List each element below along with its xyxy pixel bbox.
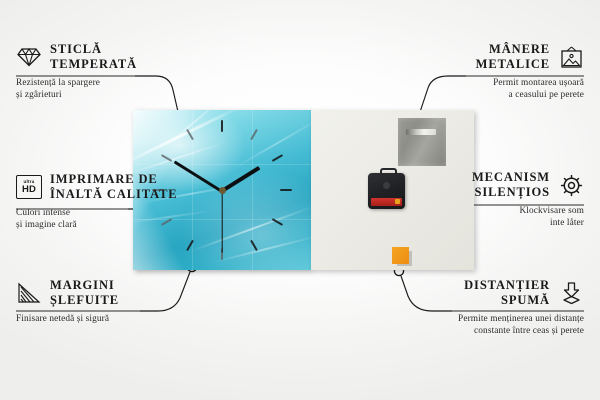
clock-hour-hand [221, 166, 260, 193]
hd-badge-main-text: HD [22, 185, 36, 195]
callout-description: Permit montarea ușoară a ceasului pe per… [384, 77, 584, 102]
clock-tick-12 [221, 120, 223, 132]
clock-second-hand [221, 191, 222, 253]
callout-metal-hangers: MÂNERE METALICE Permit montarea ușoară a… [384, 42, 584, 101]
callout-head: MÂNERE METALICE [384, 42, 584, 73]
polished-edge-icon [16, 280, 42, 306]
callout-tempered-glass: STICLĂ TEMPERATĂ Rezistență la spargere … [16, 42, 216, 101]
foam-spacer [392, 247, 409, 264]
callout-description: Klockvisare som inte låter [384, 205, 584, 230]
callout-description: Culori intense și imagine clară [16, 207, 216, 232]
ultra-hd-badge-icon: ultra HD [16, 174, 42, 200]
callout-description: Finisare netedă și sigură [16, 313, 216, 325]
callout-title: MARGINI ȘLEFUITE [50, 278, 119, 309]
callout-description: Permite menținerea unei distanțe constan… [384, 313, 584, 338]
callout-foam-spacer: DISTANȚIER SPUMĂ Permite menținerea unei… [384, 278, 584, 337]
callout-description: Rezistență la spargere și zgârieturi [16, 77, 216, 102]
callout-high-quality-print: ultra HD IMPRIMARE DE ÎNALTĂ CALITATE Cu… [16, 172, 216, 231]
callout-silent-mechanism: MECANISM SILENȚIOS [384, 170, 584, 229]
callout-head: ultra HD IMPRIMARE DE ÎNALTĂ CALITATE [16, 172, 216, 203]
clock-hand-cap [219, 187, 226, 194]
callout-title: MECANISM SILENȚIOS [472, 170, 550, 201]
hanger-slot [406, 129, 436, 135]
callout-title: STICLĂ TEMPERATĂ [50, 42, 137, 73]
product-feature-infographic: STICLĂ TEMPERATĂ Rezistență la spargere … [0, 0, 600, 400]
clock-tick-3 [280, 189, 292, 191]
callout-polished-edges: MARGINI ȘLEFUITE Finisare netedă și sigu… [16, 278, 216, 325]
wall-mount-frame-icon [558, 44, 584, 70]
callout-title: MÂNERE METALICE [476, 42, 550, 73]
metal-hanger-plate [398, 118, 446, 166]
callout-head: MARGINI ȘLEFUITE [16, 278, 216, 309]
callout-head: DISTANȚIER SPUMĂ [384, 278, 584, 309]
down-arrow-stack-icon [558, 280, 584, 306]
diamond-icon [16, 44, 42, 70]
clock-tick-2 [272, 154, 283, 162]
callout-head: STICLĂ TEMPERATĂ [16, 42, 216, 73]
feather-streak [232, 116, 311, 169]
feather-streak [133, 110, 241, 169]
callout-head: MECANISM SILENȚIOS [384, 170, 584, 201]
callout-title: IMPRIMARE DE ÎNALTĂ CALITATE [50, 172, 178, 203]
gear-icon [558, 172, 584, 198]
callout-title: DISTANȚIER SPUMĂ [464, 278, 550, 309]
hd-badge: ultra HD [16, 175, 42, 199]
